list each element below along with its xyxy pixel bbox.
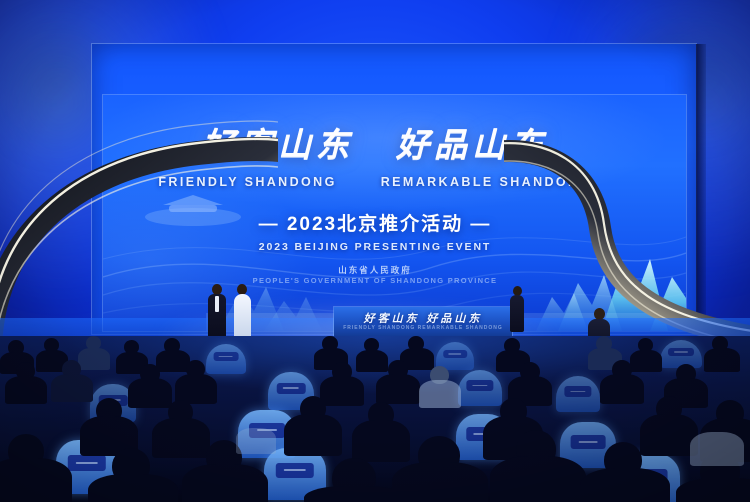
audience-shoulders [676, 478, 750, 502]
audience-shoulders [156, 350, 190, 372]
audience-shoulders-light [690, 432, 744, 466]
audience-shoulders [304, 486, 406, 502]
audience-shoulders [376, 374, 420, 404]
audience-shoulders [704, 348, 740, 372]
audience-shoulders [88, 474, 178, 502]
audience-shoulders [419, 380, 461, 408]
audience-shoulders [356, 350, 388, 372]
audience-chair [458, 370, 502, 406]
audience-shoulders [51, 374, 93, 402]
led-screen-main [103, 95, 686, 331]
audience-shoulders [490, 456, 586, 502]
pavilion-boat-motif [133, 187, 253, 233]
audience-area [0, 336, 750, 502]
audience-shoulders [78, 348, 110, 370]
audience-shoulders [352, 420, 410, 462]
audience-shoulders [600, 374, 644, 404]
organizer-english: PEOPLE'S GOVERNMENT OF SHANDONG PROVINCE [0, 276, 750, 285]
audience-shoulders-light [236, 428, 276, 454]
audience-shoulders [392, 462, 488, 502]
podium-led-banner: 好客山东 好品山东 FRIENDLY SHANDONG REMARKABLE S… [334, 307, 512, 337]
audience-shoulders [128, 378, 172, 408]
stage-person-right [509, 286, 525, 332]
podium-text-chinese: 好客山东 好品山东 [334, 310, 512, 326]
audience-shoulders [152, 418, 210, 458]
audience-shoulders [320, 376, 364, 406]
audience-shoulders [182, 464, 268, 502]
audience-chair [556, 376, 600, 412]
audience-shoulders [630, 350, 662, 372]
audience-shoulders [5, 376, 47, 404]
audience-shoulders [284, 414, 342, 456]
audience-shoulders [580, 468, 670, 502]
stage-host-female-white-dress [232, 284, 252, 340]
organizer-chinese: 山东省人民政府 [0, 264, 750, 276]
conference-stage-photo: 好客山东 好品山东 FRIENDLY SHANDONG REMARKABLE S… [0, 0, 750, 502]
podium-text-english: FRIENDLY SHANDONG REMARKABLE SHANDONG [334, 325, 512, 331]
stage-host-male-dark-suit [207, 284, 227, 340]
audience-shoulders [0, 458, 72, 502]
